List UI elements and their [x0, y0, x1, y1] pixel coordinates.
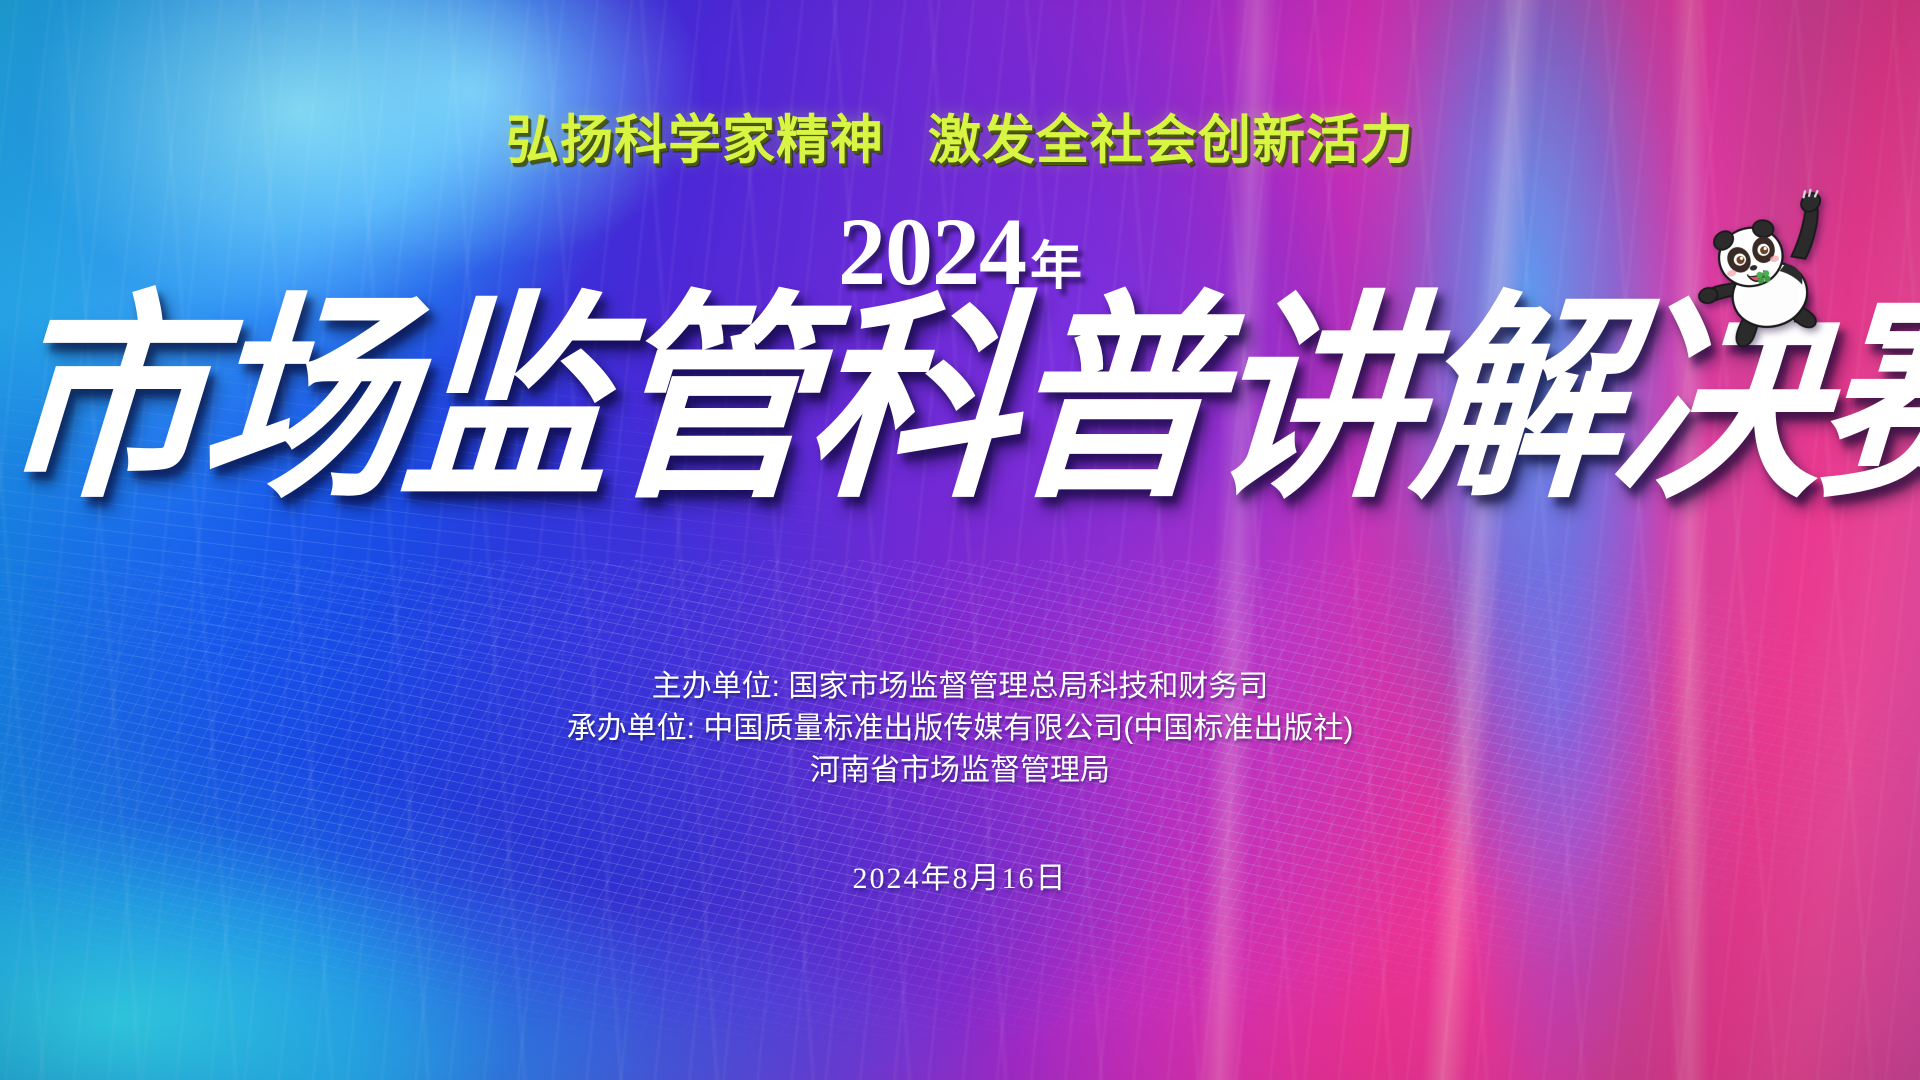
poster-slogan: 弘扬科学家精神激发全社会创新活力 [0, 98, 1920, 174]
organizer-line-coorganizer: 河南省市场监督管理局 [0, 750, 1920, 792]
organizer-block: 主办单位: 国家市场监督管理总局科技和财务司 承办单位: 中国质量标准出版传媒有… [0, 666, 1920, 792]
organizer-line-host: 主办单位: 国家市场监督管理总局科技和财务司 [0, 666, 1920, 708]
event-date: 2024年8月16日 [0, 853, 1920, 897]
organizer-line-operator: 承办单位: 中国质量标准出版传媒有限公司(中国标准出版社) [0, 708, 1920, 750]
page-title: 市场监管科普讲解决赛 [0, 292, 1920, 512]
poster-canvas: 弘扬科学家精神激发全社会创新活力 2024年 市场监管科普讲解决赛 主办单位: … [0, 0, 1920, 1080]
poster-content: 弘扬科学家精神激发全社会创新活力 2024年 市场监管科普讲解决赛 主办单位: … [0, 0, 1920, 1080]
slogan-part-one: 弘扬科学家精神 [506, 111, 884, 170]
slogan-part-two: 激发全社会创新活力 [928, 111, 1414, 170]
